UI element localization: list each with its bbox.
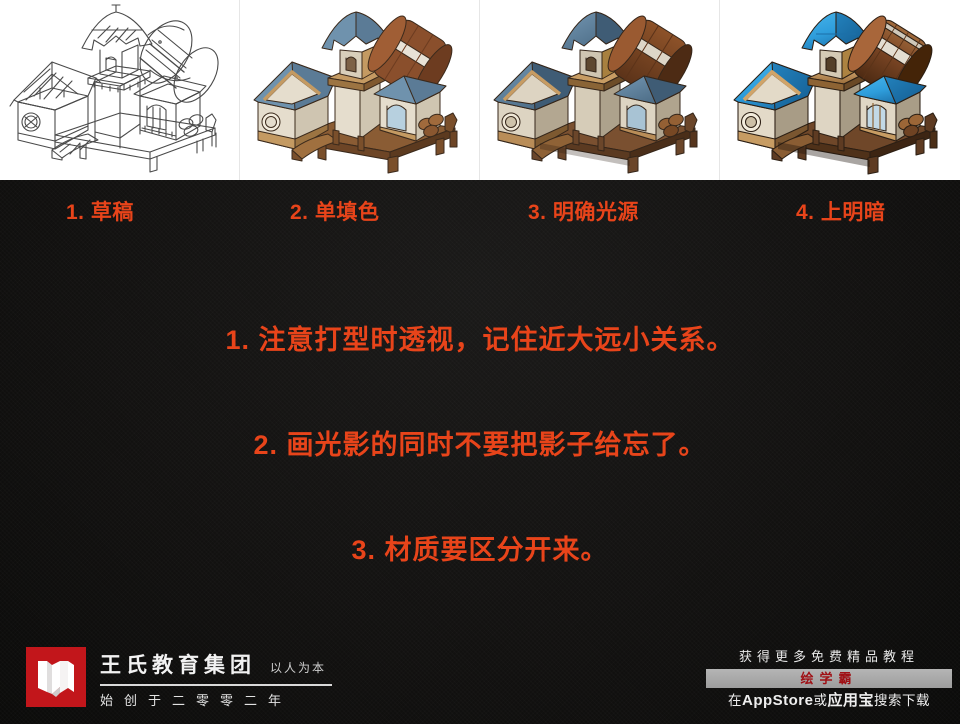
- step-label-1: 1. 草稿: [66, 198, 134, 228]
- promo-cta-prefix: 在: [728, 693, 742, 708]
- promo-app-name: 绘学霸: [800, 671, 857, 686]
- brand-divider: [100, 684, 332, 686]
- artwork-panel-sketch: [0, 0, 240, 180]
- sketch-illustration: [0, 0, 240, 180]
- promo-cta: 在AppStore或应用宝搜索下载: [706, 691, 952, 710]
- w-monogram-icon: [26, 647, 86, 707]
- brand-name: 王氏教育集团: [100, 649, 256, 679]
- artwork-strip: [0, 0, 960, 180]
- tip-line-3: 3. 材质要区分开来。: [0, 528, 960, 567]
- artwork-panel-light-source: [480, 0, 720, 180]
- tip-line-1: 1. 注意打型时透视，记住近大远小关系。: [0, 318, 960, 357]
- promo-headline: 获得更多免费精品教程: [706, 648, 952, 666]
- shading-illustration: [720, 0, 960, 180]
- brand-founded-year: 始创于二零零二年: [100, 690, 332, 709]
- brand-mark-icon: [26, 647, 86, 707]
- promo-app-bar: 绘学霸: [706, 669, 952, 688]
- brand-logo: 王氏教育集团 以人为本 始创于二零零二年: [26, 647, 332, 709]
- step-label-row: 1. 草稿 2. 单填色 3. 明确光源 4. 上明暗: [0, 198, 960, 240]
- artwork-panel-flat-color: [240, 0, 480, 180]
- light-source-illustration: [480, 0, 720, 180]
- step-label-4: 4. 上明暗: [796, 198, 885, 228]
- brand-top-row: 王氏教育集团 以人为本: [100, 649, 332, 679]
- brand-slogan: 以人为本: [270, 659, 326, 676]
- tips-block: 1. 注意打型时透视，记住近大远小关系。 2. 画光影的同时不要把影子给忘了。 …: [0, 318, 960, 567]
- step-label-3: 3. 明确光源: [528, 198, 639, 228]
- flat-color-illustration: [240, 0, 480, 180]
- app-promo-block: 获得更多免费精品教程 绘学霸 在AppStore或应用宝搜索下载: [706, 648, 952, 710]
- promo-cta-middle: 或: [813, 693, 827, 708]
- promo-store-yingyongbao: 应用宝: [827, 692, 874, 709]
- tutorial-slide: 1. 草稿 2. 单填色 3. 明确光源 4. 上明暗 1. 注意打型时透视，记…: [0, 0, 960, 724]
- promo-store-appstore: AppStore: [742, 692, 814, 709]
- brand-text-block: 王氏教育集团 以人为本 始创于二零零二年: [100, 647, 332, 709]
- artwork-panel-shading: [720, 0, 960, 180]
- promo-cta-suffix: 搜索下载: [874, 693, 930, 708]
- step-label-2: 2. 单填色: [290, 198, 379, 228]
- tip-line-2: 2. 画光影的同时不要把影子给忘了。: [0, 423, 960, 462]
